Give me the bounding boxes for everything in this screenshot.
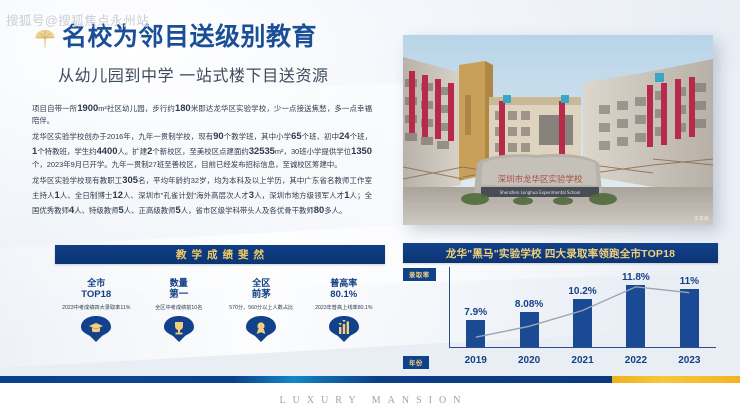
gold-fan-logo-icon bbox=[32, 26, 58, 52]
x-axis-line bbox=[449, 347, 716, 348]
graduation-cap-icon bbox=[81, 316, 111, 342]
x-tick: 2022 bbox=[609, 355, 662, 366]
stat-item: 全市 TOP18 2023中考成绩四大录取率11% bbox=[55, 277, 138, 342]
source-watermark: 搜狐号@搜狐焦点永州站 bbox=[6, 10, 149, 29]
x-tick: 2020 bbox=[502, 355, 555, 366]
stat-item: 普高率 80.1% 2023年普高上线率80.1% bbox=[303, 277, 386, 342]
x-tick: 2021 bbox=[556, 355, 609, 366]
stat-label: 普高率 bbox=[303, 277, 386, 289]
stat-value: 80.1% bbox=[303, 289, 386, 302]
school-campus-photo: 深圳市龙华区实验学校 Shenzhen Longhua Experimental… bbox=[403, 35, 713, 225]
x-tick: 2019 bbox=[449, 355, 502, 366]
left-content-column: 名校为邻目送级别教育 从幼儿园到中学 一站式楼下目送资源 项目自带一所1900m… bbox=[32, 24, 392, 218]
medal-icon bbox=[246, 316, 276, 342]
svg-text:Shenzhen Longhua Experimental: Shenzhen Longhua Experimental School bbox=[500, 190, 581, 195]
stat-note: 全区中考成绩前10名 bbox=[138, 304, 221, 311]
teaching-results-panel: 教学成绩斐然 全市 TOP18 2023中考成绩四大录取率11% 数量 第一 全… bbox=[55, 245, 385, 342]
stat-item: 全区 前茅 570分、560分以上人数占比 bbox=[220, 277, 303, 342]
footer-accent-blue bbox=[0, 376, 612, 383]
body-paragraph-3: 龙华区实验学校现有教职工305名，平均年龄约32岁，均为本科及以上学历，其中广东… bbox=[32, 172, 372, 218]
stat-label: 全市 bbox=[55, 277, 138, 289]
stat-value: 第一 bbox=[138, 289, 221, 302]
body-paragraph-1: 项目自带一所1900m²社区幼儿园，步行约180米即达龙华区实验学校，少一点接送… bbox=[32, 100, 372, 127]
page-subtitle: 从幼儿园到中学 一站式楼下目送资源 bbox=[58, 62, 392, 86]
chart-trend-line bbox=[449, 267, 716, 346]
stat-note: 570分、560分以上人数占比 bbox=[220, 304, 303, 311]
stat-note: 2023中考成绩四大录取率11% bbox=[55, 304, 138, 311]
chart-title: 龙华"黑马"实验学校 四大录取率领跑全市TOP18 bbox=[403, 243, 718, 263]
stats-banner-title: 教学成绩斐然 bbox=[55, 245, 385, 264]
stat-value: TOP18 bbox=[55, 289, 138, 302]
bar-growth-icon bbox=[329, 316, 359, 342]
body-copy: 项目自带一所1900m²社区幼儿园，步行约180米即达龙华区实验学校，少一点接送… bbox=[32, 100, 372, 217]
footer-accent-gold bbox=[612, 376, 740, 383]
stat-item: 数量 第一 全区中考成绩前10名 bbox=[138, 277, 221, 342]
x-tick: 2023 bbox=[663, 355, 716, 366]
stat-value: 前茅 bbox=[220, 289, 303, 302]
chart-body: 录取率 年份 7.9% 8.08% 10.2% 11.8% bbox=[403, 267, 718, 367]
svg-text:深圳市龙华区实验学校: 深圳市龙华区实验学校 bbox=[497, 174, 583, 185]
stat-label: 全区 bbox=[220, 277, 303, 289]
chart-x-tick-labels: 2019 2020 2021 2022 2023 bbox=[449, 355, 716, 366]
x-axis-label: 年份 bbox=[403, 356, 429, 369]
stat-label: 数量 bbox=[138, 277, 221, 289]
stat-note: 2023年普高上线率80.1% bbox=[303, 304, 386, 311]
admission-rate-chart: 龙华"黑马"实验学校 四大录取率领跑全市TOP18 录取率 年份 7.9% 8.… bbox=[403, 243, 718, 367]
stats-grid: 全市 TOP18 2023中考成绩四大录取率11% 数量 第一 全区中考成绩前1… bbox=[55, 277, 385, 342]
footer-accent-bar bbox=[0, 376, 740, 383]
photo-corner-tag: 实景图 bbox=[694, 216, 709, 222]
chart-plot-area: 7.9% 8.08% 10.2% 11.8% 11% bbox=[449, 267, 716, 367]
y-axis-label: 录取率 bbox=[403, 268, 436, 281]
body-paragraph-2: 龙华区实验学校创办于2016年，九年一贯制学校，现有90个教学班，其中小学65个… bbox=[32, 128, 372, 170]
trophy-icon bbox=[164, 316, 194, 342]
footer-brand-text: LUXURY MANSION bbox=[0, 395, 740, 406]
